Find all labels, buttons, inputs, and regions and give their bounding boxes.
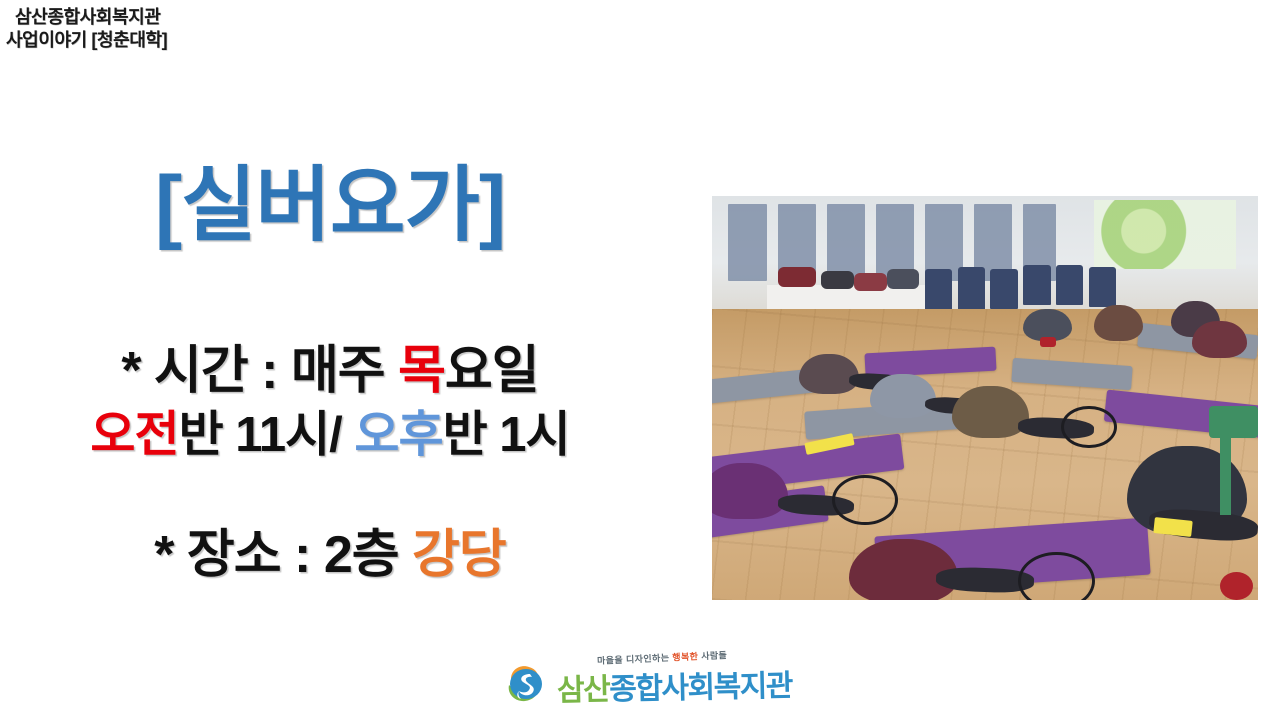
participant: [870, 374, 936, 418]
clothing-pile: [821, 271, 854, 289]
logo-emblem-icon: [505, 661, 553, 705]
green-stool: [1209, 406, 1258, 438]
schedule-hours-line: 오전반 11시/ 오후반 1시: [0, 395, 660, 466]
location-highlight-room: 강당: [412, 526, 506, 584]
logo-wordmark-green: 삼산: [557, 673, 610, 707]
time-prefix-text: * 시간 : 매주: [121, 342, 398, 400]
hours-morning-rest: 반 11시/: [179, 408, 355, 462]
logo-tagline-highlight: 행복한: [672, 651, 698, 662]
location-line: * 장소 : 2층 강당: [0, 512, 660, 587]
participant: [1094, 305, 1143, 341]
participant: [849, 539, 958, 600]
green-stool-leg: [1220, 434, 1231, 515]
yoga-ring-prop: [1061, 406, 1116, 448]
hours-morning-highlight: 오전: [90, 408, 178, 462]
wall-banner: [1094, 200, 1236, 269]
location-prefix-text: * 장소 : 2층: [154, 526, 412, 584]
stacked-chair: [1089, 267, 1116, 307]
time-suffix-text: 요일: [445, 342, 539, 400]
organization-logo: 마을을 디자인하는 행복한 사람들 삼산종합사회복지관: [505, 651, 795, 713]
stacked-chair: [990, 269, 1017, 309]
participant: [799, 354, 859, 394]
clothing-pile: [854, 273, 887, 291]
slide-header: 삼산종합사회복지관 사업이야기 [청춘대학]: [6, 6, 167, 52]
participant: [1192, 321, 1247, 357]
hours-afternoon-highlight: 오후: [354, 408, 442, 462]
clothing-pile: [778, 267, 816, 287]
wall-panel: [827, 204, 865, 281]
clothing-pile: [887, 269, 920, 289]
slide-root: 삼산종합사회복지관 사업이야기 [청춘대학] [실버요가] * 시간 : 매주 …: [0, 0, 1280, 720]
ball-prop: [1220, 572, 1253, 600]
header-line-organization: 삼산종합사회복지관: [6, 6, 167, 29]
hours-afternoon-rest: 반 1시: [443, 408, 570, 462]
time-highlight-day: 목: [398, 342, 445, 400]
yoga-ring-prop: [832, 475, 898, 525]
page-title: [실버요가]: [0, 138, 660, 257]
stacked-chair: [1023, 265, 1050, 305]
photo-scene: [712, 196, 1258, 600]
header-line-program: 사업이야기 [청춘대학]: [6, 29, 167, 52]
stacked-chair: [1056, 265, 1083, 305]
stacked-chair: [925, 269, 952, 313]
schedule-time-line: * 시간 : 매주 목요일: [0, 328, 660, 403]
logo-tagline-part2: 사람들: [698, 650, 727, 661]
stacked-chair: [958, 267, 985, 311]
ball-prop: [1040, 337, 1056, 347]
participant: [952, 386, 1028, 439]
activity-photo: [712, 196, 1258, 600]
text-column: [실버요가] * 시간 : 매주 목요일 오전반 11시/ 오후반 1시 * 장…: [0, 120, 690, 640]
wall-panel: [728, 204, 766, 281]
logo-wordmark-blue: 종합사회복지관: [609, 670, 792, 707]
logo-wordmark: 삼산종합사회복지관: [557, 661, 793, 710]
